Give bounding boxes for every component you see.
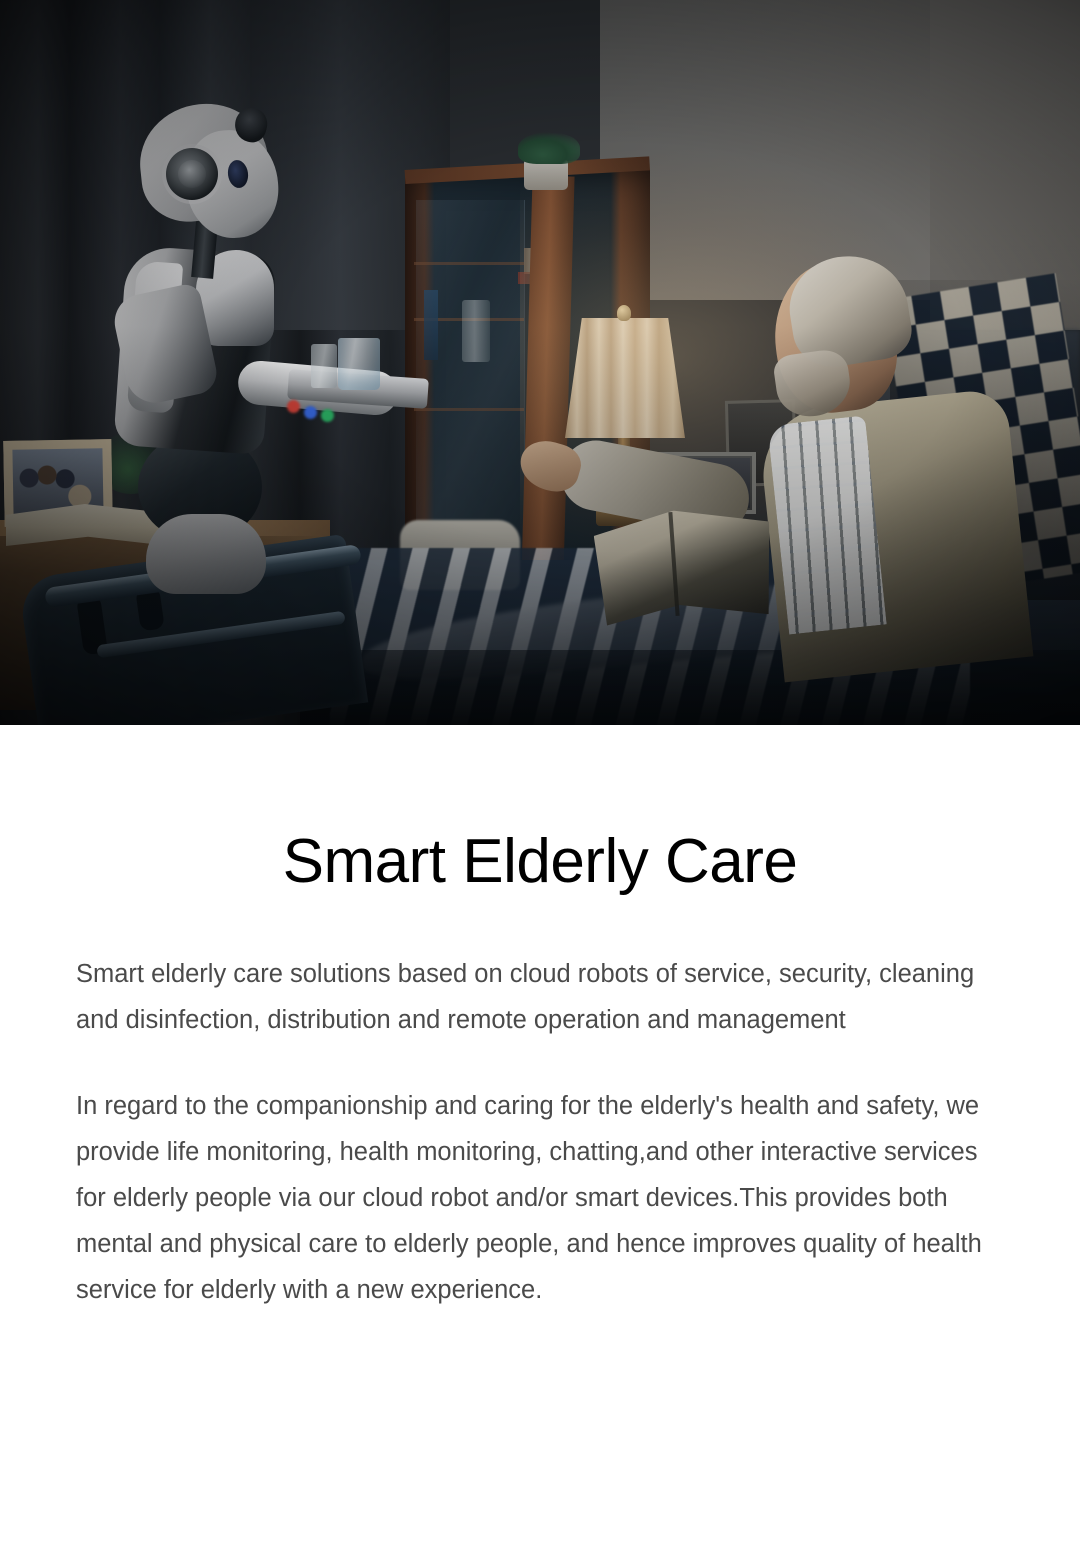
page-title: Smart Elderly Care (0, 725, 1080, 893)
robot-led-red (287, 400, 300, 413)
bedroom-scene (0, 0, 1080, 725)
glass-jar (462, 300, 490, 362)
content-section: Smart Elderly Care Smart elderly care so… (0, 725, 1080, 1313)
lamp-shade (565, 318, 685, 438)
hero-image (0, 0, 1080, 725)
glass-of-water (338, 338, 380, 390)
medicine-bottle (311, 344, 337, 388)
robot-base (146, 514, 266, 594)
plant-pot (524, 160, 568, 190)
description-paragraph-1: Smart elderly care solutions based on cl… (76, 893, 1004, 1043)
books (424, 290, 438, 360)
robot-led-blue (304, 406, 317, 419)
lamp-finial (617, 305, 631, 321)
plant-leaves-icon (518, 132, 580, 164)
description-paragraph-2: In regard to the companionship and carin… (76, 1043, 1004, 1313)
robot-head-joint-inner (178, 160, 206, 188)
robot-led-green (321, 409, 334, 422)
bookshelf-row (414, 262, 524, 265)
bookshelf-row (414, 408, 524, 411)
body-copy: Smart elderly care solutions based on cl… (0, 893, 1080, 1313)
bookshelf-glass-door (416, 200, 525, 560)
